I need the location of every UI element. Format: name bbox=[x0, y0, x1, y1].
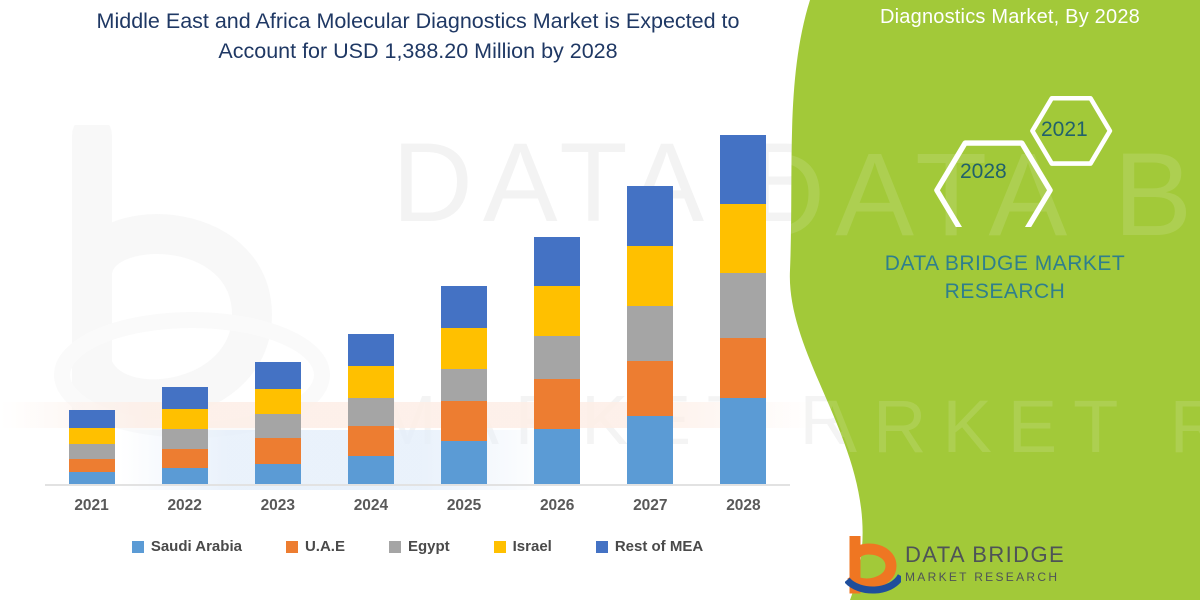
bar-segment bbox=[255, 464, 301, 485]
hexagon-badges: 2021 2028 bbox=[900, 92, 1130, 227]
bar-segment bbox=[534, 237, 580, 286]
bar-segment bbox=[627, 246, 673, 306]
bar-segment bbox=[255, 438, 301, 464]
legend-label: Egypt bbox=[408, 538, 450, 555]
plot-area bbox=[45, 100, 790, 485]
bar-segment bbox=[441, 369, 487, 401]
bar-segment bbox=[162, 449, 208, 468]
legend-label: Israel bbox=[513, 538, 552, 555]
bar-group bbox=[441, 286, 487, 485]
panel-title: Diagnostics Market, By 2028 bbox=[780, 6, 1200, 29]
bar-segment bbox=[441, 328, 487, 369]
legend-label: Rest of MEA bbox=[615, 538, 703, 555]
bar-segment bbox=[720, 273, 766, 338]
bar-segment bbox=[348, 426, 394, 456]
legend-swatch-icon bbox=[596, 541, 608, 553]
bar-group bbox=[627, 186, 673, 485]
x-axis-label: 2025 bbox=[424, 497, 504, 515]
bar-segment bbox=[162, 429, 208, 449]
x-axis-label: 2024 bbox=[331, 497, 411, 515]
logo-subtitle: MARKET RESEARCH bbox=[905, 570, 1059, 584]
bar-segment bbox=[627, 416, 673, 485]
bar-segment bbox=[69, 459, 115, 472]
hex-label-2028: 2028 bbox=[960, 160, 1007, 184]
bar-segment bbox=[255, 389, 301, 414]
legend-label: Saudi Arabia bbox=[151, 538, 242, 555]
bar-segment bbox=[441, 401, 487, 441]
x-axis-label: 2022 bbox=[145, 497, 225, 515]
x-axis-label: 2023 bbox=[238, 497, 318, 515]
bar-segment bbox=[441, 441, 487, 485]
data-bridge-logo: DATA BRIDGE MARKET RESEARCH bbox=[845, 536, 1125, 600]
x-axis-label: 2026 bbox=[517, 497, 597, 515]
bar-group bbox=[255, 362, 301, 485]
bar-segment bbox=[162, 409, 208, 429]
bar-segment bbox=[720, 338, 766, 398]
bar-segment bbox=[627, 306, 673, 361]
bar-segment bbox=[348, 366, 394, 398]
bar-segment bbox=[255, 362, 301, 389]
bar-segment bbox=[534, 286, 580, 336]
bar-segment bbox=[441, 286, 487, 328]
bar-group bbox=[162, 387, 208, 485]
bar-group bbox=[69, 410, 115, 485]
bar-segment bbox=[162, 468, 208, 485]
x-axis-label: 2027 bbox=[610, 497, 690, 515]
bar-segment bbox=[720, 204, 766, 273]
legend-swatch-icon bbox=[389, 541, 401, 553]
chart-legend: Saudi ArabiaU.A.EEgyptIsraelRest of MEA bbox=[45, 538, 790, 555]
bar-group bbox=[720, 135, 766, 485]
legend-item[interactable]: Rest of MEA bbox=[596, 538, 703, 555]
bar-segment bbox=[348, 334, 394, 366]
bar-segment bbox=[69, 428, 115, 444]
legend-swatch-icon bbox=[494, 541, 506, 553]
bar-segment bbox=[348, 456, 394, 485]
legend-item[interactable]: U.A.E bbox=[286, 538, 345, 555]
legend-item[interactable]: Egypt bbox=[389, 538, 450, 555]
panel-brand-name: DATA BRIDGE MARKET RESEARCH bbox=[840, 250, 1170, 306]
x-axis-label: 2021 bbox=[52, 497, 132, 515]
bar-segment bbox=[348, 398, 394, 426]
bar-segment bbox=[162, 387, 208, 409]
legend-label: U.A.E bbox=[305, 538, 345, 555]
bar-segment bbox=[534, 429, 580, 485]
bar-segment bbox=[720, 398, 766, 485]
infographic-canvas: DATA BRIDGE MARKET RESEARCH DATA BRIDGE … bbox=[0, 0, 1200, 600]
x-axis-label: 2028 bbox=[703, 497, 783, 515]
x-axis-tick-labels: 20212022202320242025202620272028 bbox=[45, 497, 790, 523]
bar-segment bbox=[69, 444, 115, 459]
bar-group bbox=[348, 334, 394, 485]
bar-segment bbox=[627, 361, 673, 416]
legend-item[interactable]: Israel bbox=[494, 538, 552, 555]
bar-segment bbox=[69, 410, 115, 428]
bar-segment bbox=[627, 186, 673, 246]
bar-segment bbox=[534, 379, 580, 429]
hex-label-2021: 2021 bbox=[1041, 118, 1088, 142]
bar-group bbox=[534, 237, 580, 485]
logo-title: DATA BRIDGE bbox=[905, 542, 1065, 568]
green-side-panel: DATA BRIDGE MARKET RESEARCH Diagnostics … bbox=[780, 0, 1200, 600]
hexagon-icons bbox=[900, 92, 1130, 227]
stacked-bar-chart: 20212022202320242025202620272028 Saudi A… bbox=[0, 0, 820, 600]
legend-item[interactable]: Saudi Arabia bbox=[132, 538, 242, 555]
legend-swatch-icon bbox=[286, 541, 298, 553]
bar-segment bbox=[534, 336, 580, 379]
svg-text:MARKET RESEARCH: MARKET RESEARCH bbox=[780, 385, 1200, 468]
bar-segment bbox=[720, 135, 766, 204]
legend-swatch-icon bbox=[132, 541, 144, 553]
x-axis-line bbox=[45, 484, 790, 486]
logo-b-icon bbox=[845, 536, 901, 596]
bar-segment bbox=[255, 414, 301, 438]
